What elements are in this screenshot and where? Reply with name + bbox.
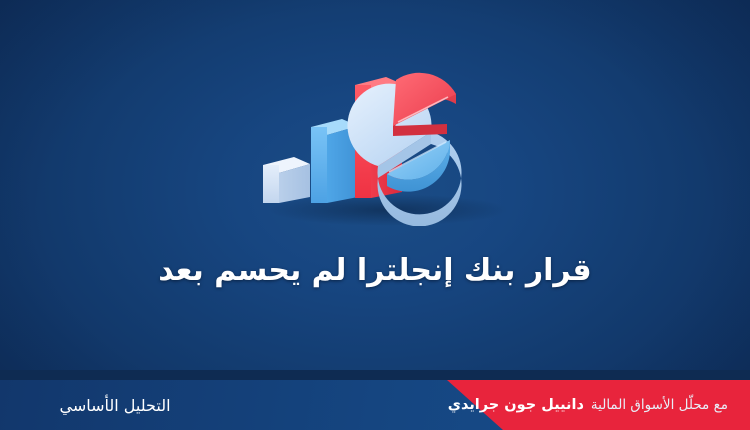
page-title: قرار بنك إنجلترا لم يحسم بعد [0, 252, 750, 290]
category-badge: التحليل الأساسي [0, 380, 230, 430]
footer-top-strip [0, 370, 750, 380]
chart-illustration [248, 58, 516, 226]
analyst-name-label: دانييل جون جرايدي [448, 397, 584, 413]
category-label: التحليل الأساسي [59, 396, 170, 415]
analyst-role-label: مع محلّل الأسواق المالية [591, 397, 728, 413]
pie-slice-red-side-b [393, 124, 447, 136]
bar-small-pale [263, 157, 310, 203]
footer-body: مع محلّل الأسواق المالية دانييل جون جراي… [0, 380, 750, 430]
analyst-credit: مع محلّل الأسواق المالية دانييل جون جراي… [448, 380, 728, 430]
promo-card: قرار بنك إنجلترا لم يحسم بعد مع محلّل ال… [0, 0, 750, 430]
footer-bar: مع محلّل الأسواق المالية دانييل جون جراي… [0, 370, 750, 430]
